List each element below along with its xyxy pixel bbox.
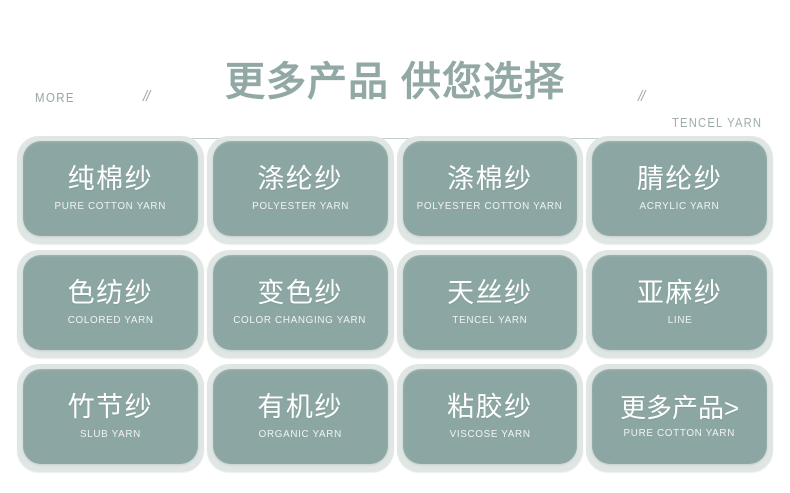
category-name-cn: 变色纱 (257, 279, 343, 308)
category-card-inner: 粘胶纱 VISCOSE YARN (403, 369, 578, 464)
category-name-cn: 竹节纱 (68, 393, 154, 422)
category-name-en: TENCEL YARN (452, 314, 527, 326)
category-card-inner: 涤纶纱 POLYESTER YARN (213, 141, 388, 236)
category-card-inner: 更多产品> PURE COTTON YARN (592, 369, 767, 464)
header-subtitle: TENCEL YARN (672, 116, 762, 130)
product-category-grid: 纯棉纱 PURE COTTON YARN 涤纶纱 POLYESTER YARN … (17, 136, 773, 472)
category-card-viscose-yarn[interactable]: 粘胶纱 VISCOSE YARN (397, 364, 584, 472)
category-name-en: LINE (667, 314, 692, 326)
category-card-acrylic-yarn[interactable]: 腈纶纱 ACRYLIC YARN (586, 136, 773, 244)
category-name-cn: 有机纱 (257, 393, 343, 422)
category-name-en: ACRYLIC YARN (640, 200, 720, 212)
category-name-cn: 色纺纱 (68, 279, 154, 308)
category-card-inner: 纯棉纱 PURE COTTON YARN (23, 141, 198, 236)
category-card-inner: 色纺纱 COLORED YARN (23, 255, 198, 350)
category-card-tencel-yarn[interactable]: 天丝纱 TENCEL YARN (397, 250, 584, 358)
category-card-polyester-yarn[interactable]: 涤纶纱 POLYESTER YARN (207, 136, 394, 244)
category-name-cn: 涤棉纱 (447, 165, 533, 194)
category-card-inner: 亚麻纱 LINE (592, 255, 767, 350)
category-card-pure-cotton-yarn[interactable]: 纯棉纱 PURE COTTON YARN (17, 136, 204, 244)
header-slash-right-decoration: // (638, 88, 644, 105)
category-card-more-products[interactable]: 更多产品> PURE COTTON YARN (586, 364, 773, 472)
category-card-inner: 变色纱 COLOR CHANGING YARN (213, 255, 388, 350)
category-name-cn: 天丝纱 (447, 279, 533, 308)
category-name-cn: 更多产品> (620, 394, 739, 422)
category-card-color-changing-yarn[interactable]: 变色纱 COLOR CHANGING YARN (207, 250, 394, 358)
category-card-colored-yarn[interactable]: 色纺纱 COLORED YARN (17, 250, 204, 358)
category-name-en: PURE COTTON YARN (55, 200, 166, 212)
category-name-en: ORGANIC YARN (259, 428, 342, 440)
category-name-en: POLYESTER COTTON YARN (417, 200, 563, 212)
category-name-en: COLORED YARN (67, 314, 153, 326)
category-name-en: PURE COTTON YARN (624, 427, 735, 439)
category-name-en: COLOR CHANGING YARN (234, 314, 367, 326)
page-title-main: 更多产品 (225, 60, 389, 104)
category-card-organic-yarn[interactable]: 有机纱 ORGANIC YARN (207, 364, 394, 472)
category-card-inner: 有机纱 ORGANIC YARN (213, 369, 388, 464)
category-card-line[interactable]: 亚麻纱 LINE (586, 250, 773, 358)
category-name-cn: 纯棉纱 (68, 165, 154, 194)
banner-header: MORE // 更多产品供您选择 // TENCEL YARN (0, 28, 790, 114)
category-name-cn: 涤纶纱 (257, 165, 343, 194)
category-card-inner: 竹节纱 SLUB YARN (23, 369, 198, 464)
category-card-slub-yarn[interactable]: 竹节纱 SLUB YARN (17, 364, 204, 472)
category-card-inner: 涤棉纱 POLYESTER COTTON YARN (403, 141, 578, 236)
category-name-en: POLYESTER YARN (252, 200, 349, 212)
category-card-inner: 腈纶纱 ACRYLIC YARN (592, 141, 767, 236)
category-name-cn: 粘胶纱 (447, 393, 533, 422)
product-category-banner: MORE // 更多产品供您选择 // TENCEL YARN 纯棉纱 PURE… (0, 0, 790, 493)
category-card-inner: 天丝纱 TENCEL YARN (403, 255, 578, 350)
page-title-secondary: 供您选择 (401, 60, 565, 104)
category-card-polyester-cotton-yarn[interactable]: 涤棉纱 POLYESTER COTTON YARN (397, 136, 584, 244)
category-name-cn: 腈纶纱 (637, 165, 723, 194)
category-name-en: SLUB YARN (80, 428, 141, 440)
category-name-cn: 亚麻纱 (637, 279, 723, 308)
page-title: 更多产品供您选择 (0, 62, 790, 102)
category-name-en: VISCOSE YARN (449, 428, 530, 440)
